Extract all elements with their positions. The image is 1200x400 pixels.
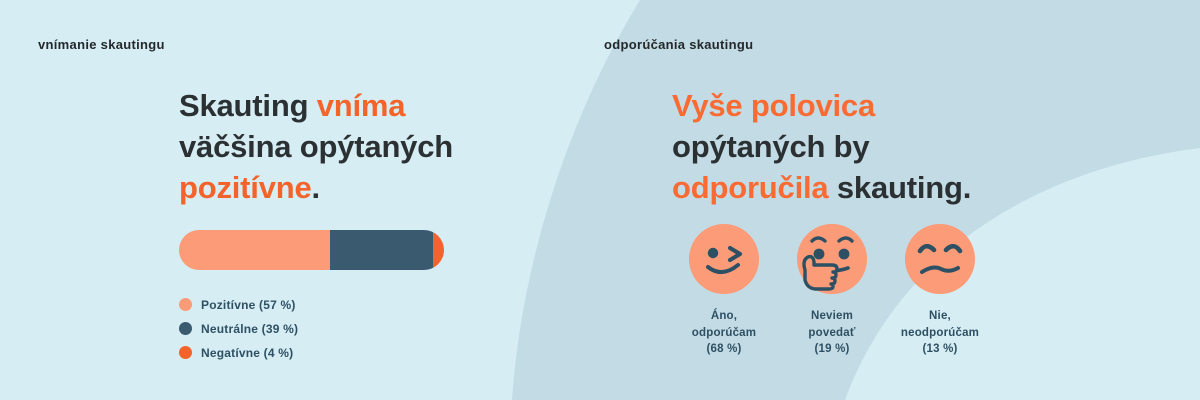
- left-headline-line-1: Skauting vníma: [179, 85, 479, 126]
- right-headline-accent: odporučila: [672, 170, 828, 205]
- right-panel-kicker: odporúčania skautingu: [604, 37, 753, 52]
- infographic-canvas: vnímanie skautingu Skauting vníma väčšin…: [0, 0, 1200, 400]
- winking-face-icon: [689, 224, 759, 294]
- left-headline-period: .: [312, 170, 320, 205]
- left-headline-accent-1: vníma: [317, 88, 406, 123]
- legend-label-neutral: Neutrálne (39 %): [201, 322, 298, 336]
- face-label-yes: Áno, odporúčam (68 %): [672, 308, 776, 358]
- left-headline-accent-2: pozitívne: [179, 170, 312, 205]
- bar-segment-positive: [179, 230, 330, 270]
- legend-item-negative: Negatívne (4 %): [179, 342, 298, 363]
- right-headline-line-3: odporučila skauting.: [672, 167, 1002, 208]
- bar-segment-neutral: [330, 230, 433, 270]
- right-panel-headline: Vyše polovica opýtaných by odporučila sk…: [672, 85, 1002, 209]
- legend-dot-negative: [179, 346, 192, 359]
- face-label-no: Nie, neodporúčam (13 %): [888, 308, 992, 358]
- left-panel-headline: Skauting vníma väčšina opýtaných pozitív…: [179, 85, 479, 209]
- legend-item-positive: Pozitívne (57 %): [179, 294, 298, 315]
- thinking-face-icon: [797, 224, 867, 294]
- perception-legend: Pozitívne (57 %) Neutrálne (39 %) Negatí…: [179, 294, 298, 366]
- left-headline-line-3: pozitívne.: [179, 167, 479, 208]
- face-column-yes: Áno, odporúčam (68 %): [672, 224, 776, 358]
- left-headline-line-2: väčšina opýtaných: [179, 126, 479, 167]
- face-column-dontknow: Neviem povedať (19 %): [780, 224, 884, 358]
- legend-item-neutral: Neutrálne (39 %): [179, 318, 298, 339]
- perception-stacked-bar: [179, 230, 444, 270]
- legend-label-negative: Negatívne (4 %): [201, 346, 293, 360]
- legend-dot-positive: [179, 298, 192, 311]
- right-headline-line-1: Vyše polovica: [672, 85, 1002, 126]
- face-label-dontknow: Neviem povedať (19 %): [780, 308, 884, 358]
- left-panel-kicker: vnímanie skautingu: [38, 37, 165, 52]
- legend-label-positive: Pozitívne (57 %): [201, 298, 296, 312]
- confused-face-icon: [905, 224, 975, 294]
- face-column-no: Nie, neodporúčam (13 %): [888, 224, 992, 358]
- legend-dot-neutral: [179, 322, 192, 335]
- left-headline-plain-1: Skauting: [179, 88, 317, 123]
- right-headline-line-2: opýtaných by: [672, 126, 1002, 167]
